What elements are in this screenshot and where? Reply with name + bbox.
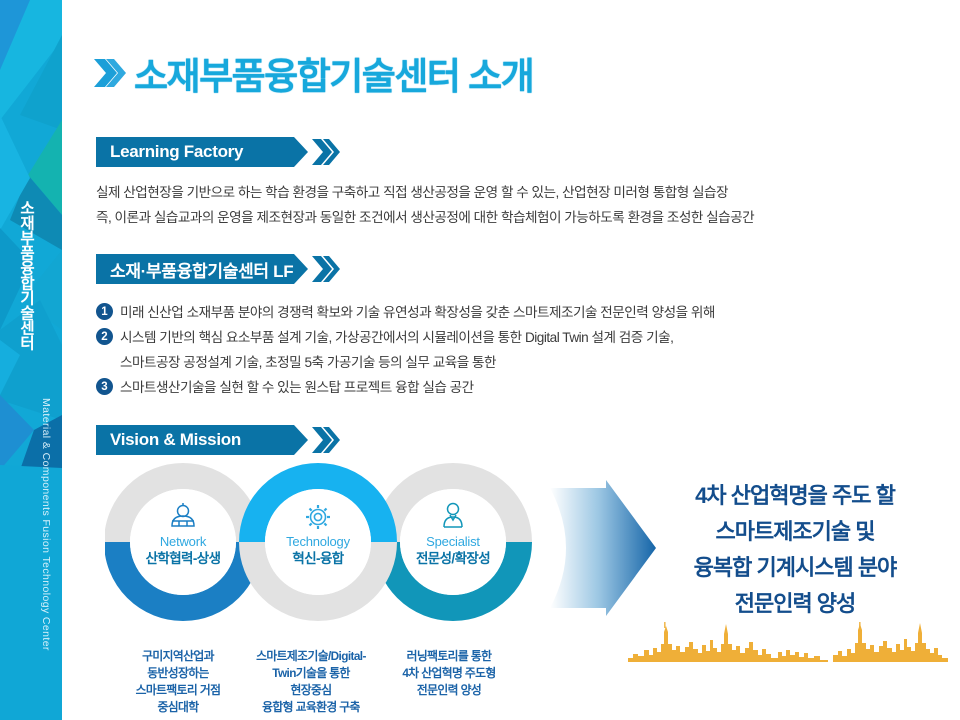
circle-label-specialist: Specialist 전문성/확장성: [388, 534, 518, 567]
left-sidebar: 소재부품융합기술센터 Material & Components Fusion …: [0, 0, 62, 720]
double-chevron-right-icon: [92, 53, 126, 93]
circle-label-network-en: Network: [118, 534, 248, 550]
circle-label-network-kr: 산학협력-상생: [118, 550, 248, 567]
center-lf-list: 1 미래 신산업 소재부품 분야의 경쟁력 확보와 기술 유연성과 확장성을 갖…: [96, 300, 936, 400]
caption-network-line-4: 중심대학: [110, 699, 246, 716]
circle-label-specialist-kr: 전문성/확장성: [388, 550, 518, 567]
section-header-learning-factory: Learning Factory: [96, 137, 340, 167]
list-number-badge: 1: [96, 303, 113, 320]
slide-root: 소재부품융합기술센터 Material & Components Fusion …: [0, 0, 960, 720]
list-item-text: 미래 신산업 소재부품 분야의 경쟁력 확보와 기술 유연성과 확장성을 갖춘 …: [120, 300, 715, 325]
list-item: 3 스마트생산기술을 실현 할 수 있는 원스탑 프로젝트 융합 실습 공간: [96, 375, 936, 400]
section-bar-center-lf: 소재·부품융합기술센터 LF: [96, 254, 294, 284]
city-skyline-icon: [628, 622, 948, 669]
caption-specialist-line-3: 전문인력 양성: [378, 682, 520, 699]
circle-label-technology-en: Technology: [253, 534, 383, 550]
vision-line-3: 융복합 기계시스템 분야: [640, 550, 950, 586]
section-bar-learning-factory: Learning Factory: [96, 137, 294, 167]
venn-circles-diagram: Network 산학협력-상생 Technology 혁신-융합 Special…: [105, 462, 535, 622]
list-item: 1 미래 신산업 소재부품 분야의 경쟁력 확보와 기술 유연성과 확장성을 갖…: [96, 300, 936, 325]
caption-network-line-1: 구미지역산업과: [110, 648, 246, 665]
list-item-continuation: 스마트공장 공정설계 기술, 초정밀 5축 가공기술 등의 실무 교육을 통한: [96, 350, 936, 375]
learning-factory-line-1: 실제 산업현장을 기반으로 하는 학습 환경을 구축하고 직접 생산공정을 운영…: [96, 180, 728, 205]
list-item-text: 스마트생산기술을 실현 할 수 있는 원스탑 프로젝트 융합 실습 공간: [120, 375, 474, 400]
caption-specialist-line-2: 4차 산업혁명 주도형: [378, 665, 520, 682]
circle-label-technology-kr: 혁신-융합: [253, 550, 383, 567]
caption-specialist-line-1: 러닝팩토리를 통한: [378, 648, 520, 665]
section-bar-tip: [294, 254, 308, 284]
double-chevron-right-icon: [310, 137, 340, 167]
section-label-center-lf: 소재·부품융합기술센터 LF: [110, 257, 293, 282]
circle-label-network: Network 산학협력-상생: [118, 534, 248, 567]
vision-line-4: 전문인력 양성: [640, 586, 950, 622]
circle-label-specialist-en: Specialist: [388, 534, 518, 550]
circle-label-technology: Technology 혁신-융합: [253, 534, 383, 567]
vision-statement: 4차 산업혁명을 주도 할 스마트제조기술 및 융복합 기계시스템 분야 전문인…: [640, 478, 950, 622]
caption-network-line-3: 스마트팩토리 거점: [110, 682, 246, 699]
list-item-text: 시스템 기반의 핵심 요소부품 설계 기술, 가상공간에서의 시뮬레이션을 통한…: [120, 325, 673, 350]
section-header-vision-mission: Vision & Mission: [96, 425, 340, 455]
caption-technology: 스마트제조기술/Digital- Twin기술을 통한 현장중심 융합형 교육환…: [234, 648, 388, 716]
list-item-text: 스마트공장 공정설계 기술, 초정밀 5축 가공기술 등의 실무 교육을 통한: [120, 350, 496, 375]
section-bar-tip: [294, 137, 308, 167]
double-chevron-right-icon: [310, 425, 340, 455]
caption-technology-line-1: 스마트제조기술/Digital-: [234, 648, 388, 665]
caption-specialist: 러닝팩토리를 통한 4차 산업혁명 주도형 전문인력 양성: [378, 648, 520, 699]
list-number-badge: 2: [96, 328, 113, 345]
caption-network: 구미지역산업과 동반성장하는 스마트팩토리 거점 중심대학: [110, 648, 246, 716]
page-title-text: 소재부품융합기술센터 소개: [134, 46, 533, 100]
caption-network-line-2: 동반성장하는: [110, 665, 246, 682]
section-label-learning-factory: Learning Factory: [110, 142, 243, 162]
vision-line-1: 4차 산업혁명을 주도 할: [640, 478, 950, 514]
caption-technology-line-4: 융합형 교육환경 구축: [234, 699, 388, 716]
double-chevron-right-icon: [310, 254, 340, 284]
sidebar-vertical-english-title: Material & Components Fusion Technology …: [40, 398, 52, 651]
section-bar-tip: [294, 425, 308, 455]
section-header-center-lf: 소재·부품융합기술센터 LF: [96, 254, 340, 284]
section-label-vision-mission: Vision & Mission: [110, 430, 241, 450]
caption-technology-line-3: 현장중심: [234, 682, 388, 699]
section-bar-vision-mission: Vision & Mission: [96, 425, 294, 455]
list-number-badge: 3: [96, 378, 113, 395]
list-item: 2 시스템 기반의 핵심 요소부품 설계 기술, 가상공간에서의 시뮬레이션을 …: [96, 325, 936, 350]
learning-factory-line-2: 즉, 이론과 실습교과의 운영을 제조현장과 동일한 조건에서 생산공정에 대한…: [96, 205, 754, 230]
sidebar-geometric-pattern: [0, 0, 62, 720]
vision-line-2: 스마트제조기술 및: [640, 514, 950, 550]
list-number-spacer: [96, 353, 113, 370]
sidebar-vertical-korean-title: 소재부품융합기술센터: [18, 200, 34, 350]
page-title: 소재부품융합기술센터 소개: [92, 46, 533, 100]
caption-technology-line-2: Twin기술을 통한: [234, 665, 388, 682]
